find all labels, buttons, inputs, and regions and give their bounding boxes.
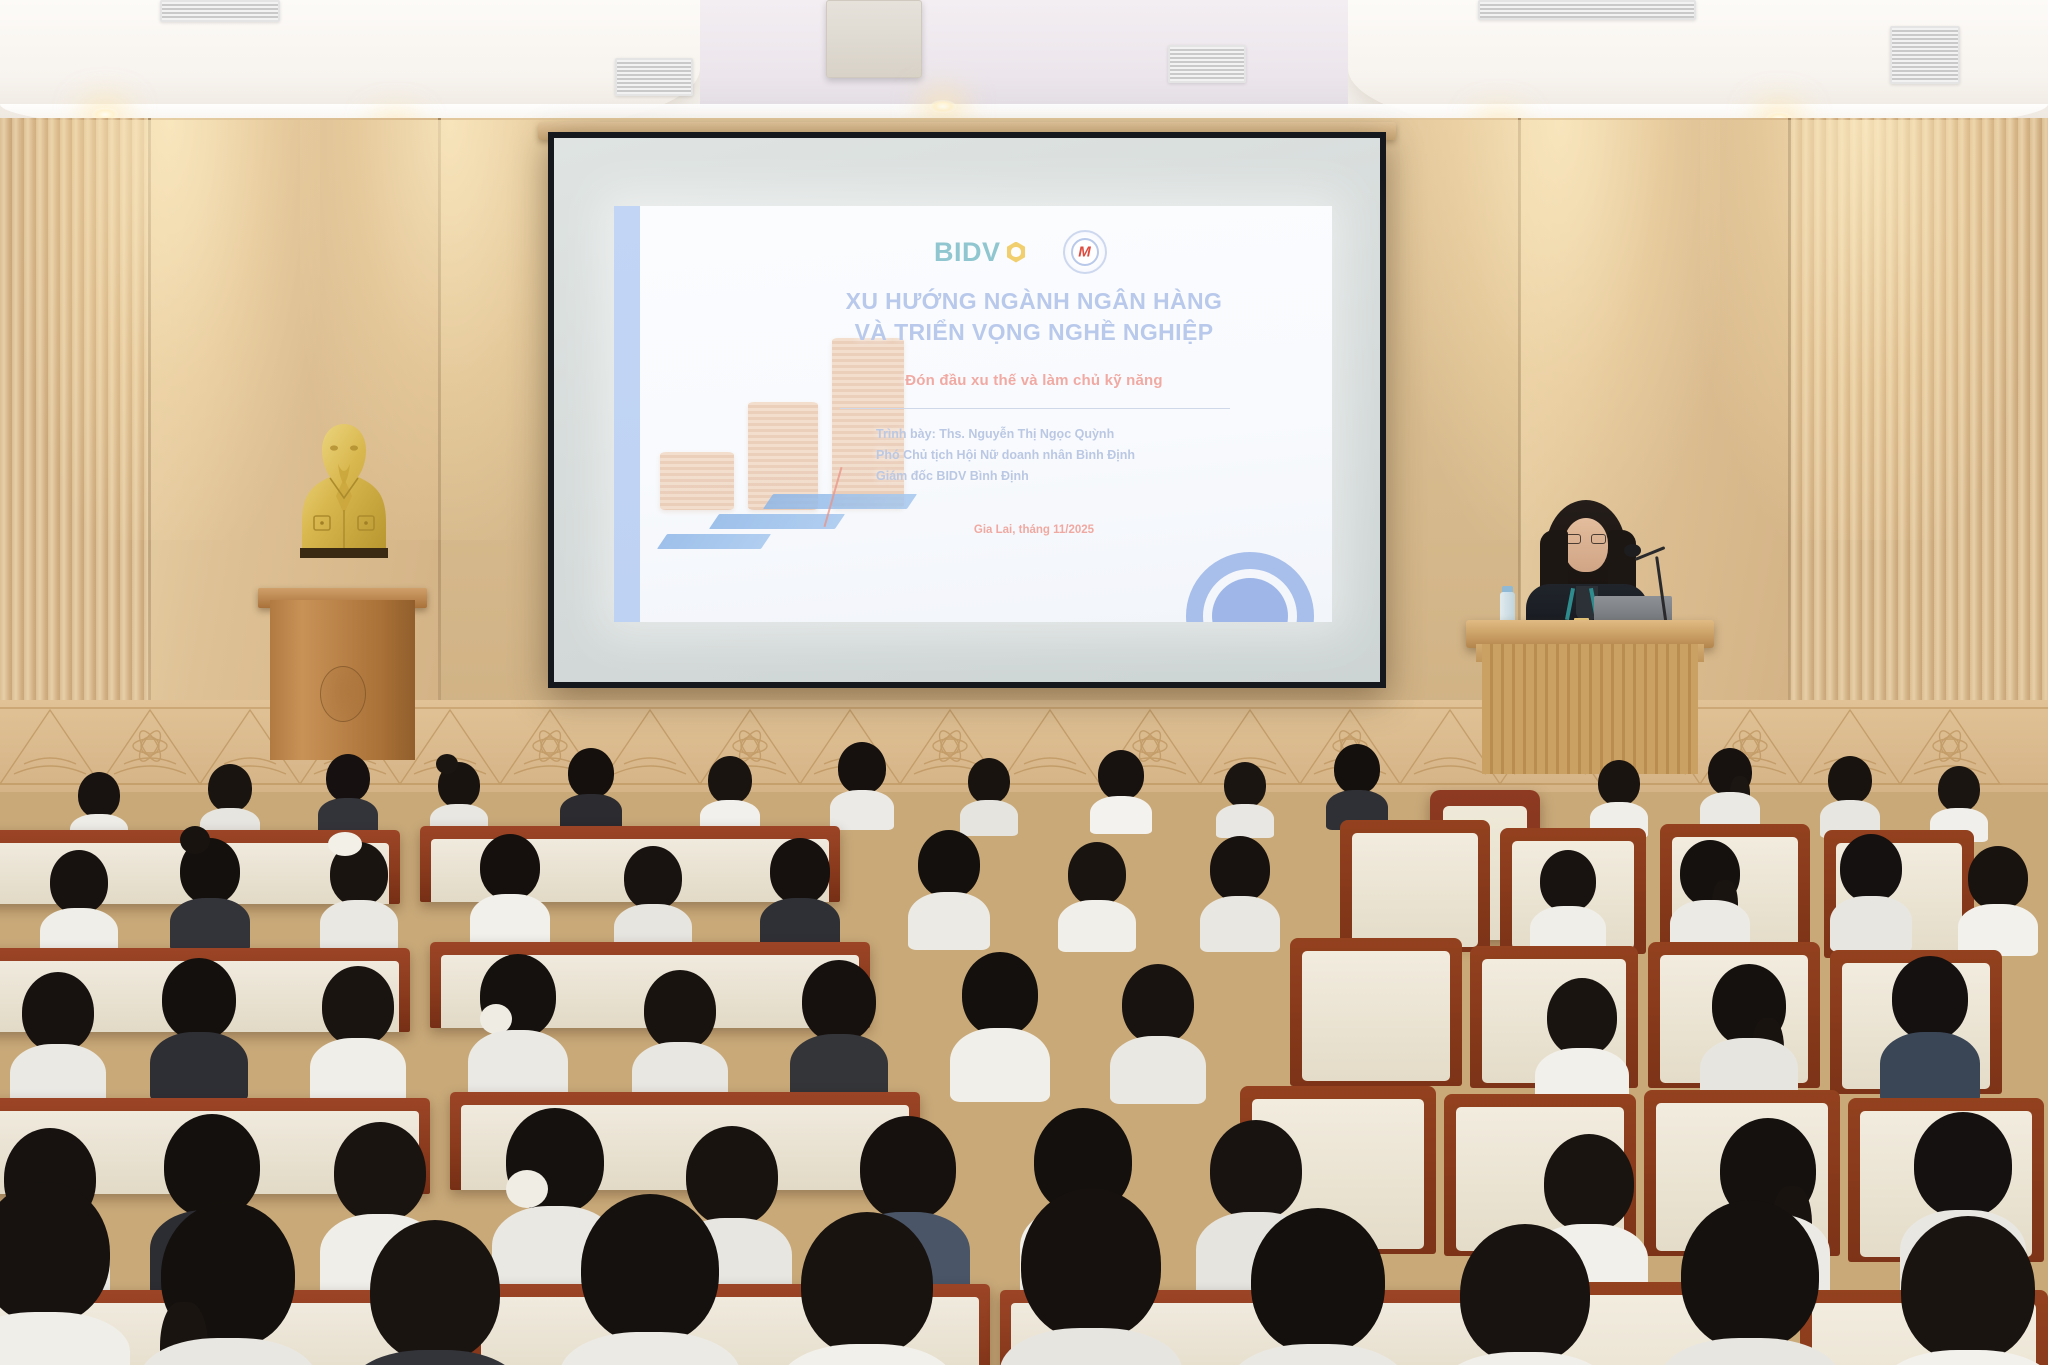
torso (908, 892, 990, 950)
wood-slat-panel-left (0, 118, 150, 758)
slide-title-line2: VÀ TRIỂN VỌNG NGHỀ NGHIỆP (764, 317, 1304, 348)
slide-accent-stripe (614, 206, 640, 622)
speaker-face (1564, 518, 1608, 572)
head (860, 1116, 956, 1220)
air-vent-icon (1478, 0, 1696, 20)
slide-divider (840, 408, 1230, 409)
torso (950, 1028, 1050, 1102)
head (708, 756, 752, 804)
wall-seam (1788, 118, 1791, 758)
audience-member (1216, 762, 1274, 834)
head (334, 1122, 426, 1222)
audience-member (1930, 766, 1988, 838)
air-vent-icon (160, 0, 280, 22)
air-vent-icon (615, 58, 693, 96)
torso (170, 898, 250, 952)
audience-member (700, 756, 760, 832)
head (1901, 1216, 2035, 1362)
torso (1110, 1036, 1206, 1104)
audience-member (1958, 846, 2038, 952)
head (1224, 762, 1266, 808)
torso (320, 900, 398, 952)
audience-member (1660, 1200, 1840, 1365)
hair-scrunchie (506, 1170, 548, 1208)
audience-member (468, 954, 568, 1098)
screen-surface: BIDV M XU HƯỚNG NGÀNH NGÂN HÀNG VÀ TRIỂN… (554, 138, 1380, 682)
slide-logo-row: BIDV M (934, 230, 1107, 274)
head (568, 748, 614, 798)
pedestal (270, 600, 415, 760)
head (624, 846, 682, 910)
audience-member (1110, 964, 1206, 1100)
bidv-logo: BIDV (934, 237, 1027, 268)
head (326, 754, 370, 802)
head (1460, 1224, 1590, 1364)
head (1122, 964, 1194, 1044)
torso (1880, 1032, 1980, 1104)
presentation-slide: BIDV M XU HƯỚNG NGÀNH NGÂN HÀNG VÀ TRIỂN… (614, 206, 1332, 622)
torso (780, 1344, 954, 1365)
seminar-hall-scene: BIDV M XU HƯỚNG NGÀNH NGÂN HÀNG VÀ TRIỂN… (0, 0, 2048, 1365)
torso (1216, 804, 1274, 838)
head (968, 758, 1010, 804)
audience-member (790, 960, 888, 1098)
audience-member (1535, 978, 1629, 1104)
head (1251, 1208, 1385, 1354)
torso (310, 1038, 406, 1104)
head (370, 1220, 500, 1362)
audience-member (1200, 836, 1280, 948)
audience-member (1058, 842, 1136, 948)
eyeglasses-icon (1566, 534, 1606, 544)
torso (0, 1312, 130, 1365)
audience-member (350, 1220, 520, 1365)
audience-member (614, 846, 692, 950)
head (1547, 978, 1617, 1056)
slide-presenter-block: Trình bày: Ths. Nguyễn Thị Ngọc Quỳnh Ph… (876, 424, 1296, 487)
wall-seam (148, 118, 151, 758)
torso (830, 790, 894, 830)
head (1210, 1120, 1302, 1220)
head (1598, 760, 1640, 806)
audience-member (140, 1202, 316, 1365)
audience-member (40, 850, 118, 954)
audience-member (150, 958, 248, 1098)
projection-screen[interactable]: BIDV M XU HƯỚNG NGÀNH NGÂN HÀNG VÀ TRIỂN… (548, 132, 1386, 688)
audience-member (430, 762, 488, 832)
bidv-flower-icon (1006, 242, 1027, 263)
ceiling-projector (826, 0, 922, 78)
presenter-role-2: Giám đốc BIDV Bình Định (876, 466, 1296, 487)
head (1938, 766, 1980, 812)
slide-date-location: Gia Lai, tháng 11/2025 (764, 524, 1304, 536)
audience-member (320, 842, 398, 948)
slide-title-line1: XU HƯỚNG NGÀNH NGÂN HÀNG (764, 286, 1304, 317)
head (22, 972, 94, 1052)
head (1892, 956, 1968, 1040)
audience-member (1590, 760, 1648, 834)
audience-member (318, 754, 378, 832)
air-vent-icon (1168, 45, 1246, 83)
head (918, 830, 980, 898)
head (802, 960, 876, 1042)
audience-member (830, 742, 894, 826)
audience-member (10, 972, 106, 1104)
audience-member (1440, 1224, 1610, 1365)
ho-chi-minh-bust (296, 418, 392, 596)
head (770, 838, 830, 904)
head (838, 742, 886, 794)
hair-bun (180, 826, 210, 854)
torso (1058, 900, 1136, 952)
audience-member (310, 966, 406, 1100)
air-vent-icon (1890, 26, 1960, 84)
wall-seam (438, 118, 441, 758)
audience-member (200, 764, 260, 838)
torso (1660, 1338, 1840, 1365)
pedestal-emblem-icon (320, 666, 366, 722)
torso (1958, 904, 2038, 956)
audience-member (170, 838, 250, 948)
head (50, 850, 108, 914)
audience-member (1700, 748, 1760, 828)
ceiling-center-beam (700, 0, 1348, 108)
audience-area (0, 742, 2048, 1365)
head (78, 772, 120, 818)
torso (350, 1350, 520, 1365)
torso (150, 1032, 248, 1102)
head (1840, 834, 1902, 902)
head (1021, 1188, 1161, 1340)
head (1968, 846, 2028, 910)
audience-member (1830, 834, 1912, 948)
audience-member (1000, 1188, 1182, 1365)
audience-member (960, 758, 1018, 832)
torso (1230, 1344, 1406, 1365)
audience-member (1880, 956, 1980, 1100)
chart-bar (763, 494, 917, 509)
torso (1200, 896, 1280, 952)
microphone-icon (1624, 544, 1641, 557)
chair-back[interactable] (1290, 938, 1462, 1086)
head (1540, 850, 1596, 912)
head (581, 1194, 719, 1344)
audience-member (560, 1194, 740, 1365)
head (162, 958, 236, 1040)
audience-member (560, 748, 622, 828)
audience-member (1670, 840, 1750, 950)
chair-back[interactable] (1340, 820, 1490, 952)
audience-member (1530, 850, 1606, 950)
audience-member (0, 1182, 130, 1365)
head (962, 952, 1038, 1036)
audience-member (1326, 744, 1388, 826)
presenter-name: Trình bày: Ths. Nguyễn Thị Ngọc Quỳnh (876, 424, 1296, 445)
audience-member (1820, 756, 1880, 834)
head (0, 1182, 110, 1324)
head (1334, 744, 1380, 794)
head (801, 1212, 933, 1356)
slide-subtitle: Đón đầu xu thế và làm chủ kỹ năng (764, 372, 1304, 389)
hair-bun (436, 754, 458, 774)
head (644, 970, 716, 1050)
slide-title: XU HƯỚNG NGÀNH NGÂN HÀNG VÀ TRIỂN VỌNG N… (764, 286, 1304, 348)
head (1828, 756, 1872, 804)
audience-member (470, 834, 550, 946)
downlight-icon (930, 100, 956, 113)
university-emblem-icon: M (1063, 230, 1107, 274)
bust-icon (296, 418, 392, 596)
audience-member (780, 1212, 954, 1365)
audience-member (1090, 750, 1152, 830)
head (1098, 750, 1144, 800)
bidv-wordmark: BIDV (934, 237, 1001, 268)
head (322, 966, 394, 1046)
audience-member (1880, 1216, 2048, 1365)
head (1068, 842, 1126, 906)
head (1544, 1134, 1634, 1232)
head (1210, 836, 1270, 902)
torso (1440, 1352, 1610, 1365)
wood-slat-panel-right (1790, 118, 2048, 758)
audience-member (908, 830, 990, 946)
chart-bar (657, 534, 771, 549)
coin-stack-small (660, 452, 734, 510)
head (480, 834, 540, 900)
torso (560, 1332, 740, 1365)
torso (1090, 796, 1152, 834)
audience-member (632, 970, 728, 1102)
head (208, 764, 252, 812)
head (1681, 1200, 1819, 1350)
torso (1000, 1328, 1182, 1365)
hair-scrunchie (328, 832, 362, 856)
audience-member (760, 838, 840, 948)
head (1914, 1112, 2012, 1218)
audience-member (950, 952, 1050, 1098)
emblem-letter: M (1078, 244, 1091, 261)
audience-member (1700, 964, 1798, 1102)
torso (1830, 896, 1912, 952)
presenter-role-1: Phó Chủ tịch Hội Nữ doanh nhân Bình Định (876, 445, 1296, 466)
audience-member (1230, 1208, 1406, 1365)
torso (1880, 1350, 2048, 1365)
